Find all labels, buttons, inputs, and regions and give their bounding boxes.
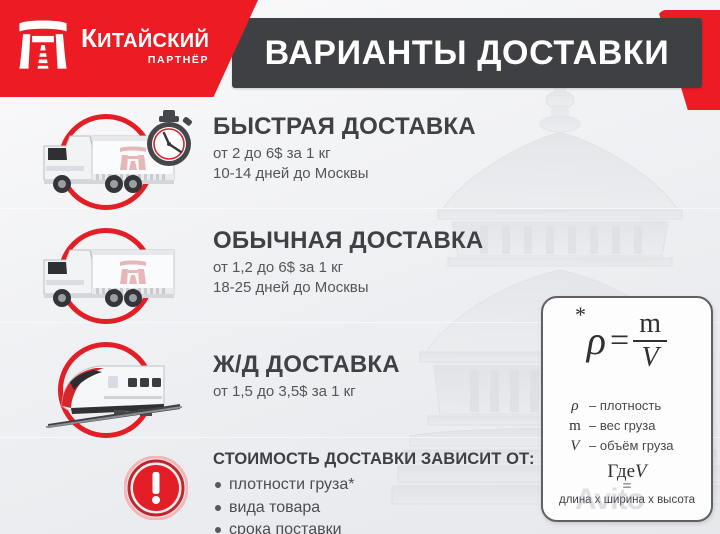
formula-where-equals: = bbox=[543, 482, 711, 492]
cost-factor-list: плотности груза* вида товара срока поста… bbox=[213, 474, 535, 534]
delivery-options-infographic: ВАРИАНТЫ ДОСТАВКИ КИТАЙСКИЙ bbox=[0, 0, 720, 534]
option-price: от 1,5 до 3,5$ за 1 кг bbox=[213, 383, 400, 401]
legend-text: – объём груза bbox=[589, 438, 674, 453]
option-price: от 1,2 до 6$ за 1 кг bbox=[213, 259, 483, 277]
option-text-rail: Ж/Д ДОСТАВКА от 1,5 до 3,5$ за 1 кг bbox=[213, 352, 400, 401]
list-item: срока поставки bbox=[213, 519, 535, 534]
formula-where-value: длина х ширина х высота bbox=[543, 494, 711, 506]
formula-numerator: m bbox=[639, 310, 661, 338]
legend-text: – вес груза bbox=[589, 418, 655, 433]
legend-text: – плотность bbox=[589, 398, 661, 413]
brand-logo[interactable]: КИТАЙСКИЙ ПАРТНЁР bbox=[14, 16, 209, 74]
cost-factors-block: СТОИМОСТЬ ДОСТАВКИ ЗАВИСИТ ОТ: плотности… bbox=[213, 450, 535, 534]
legend-row: V – объём груза bbox=[565, 438, 711, 455]
formula-legend: ρ – плотность m – вес груза V – объём гр… bbox=[543, 398, 711, 458]
brand-name-rest: ИТАЙСКИЙ bbox=[97, 30, 209, 52]
density-formula-card: * ρ = m V ρ – плотность m – вес груза V … bbox=[541, 296, 713, 522]
formula-denominator: V bbox=[642, 344, 659, 372]
option-row-fast[interactable]: БЫСТРАЯ ДОСТАВКА от 2 до 6$ за 1 кг 10-1… bbox=[0, 108, 720, 208]
formula-expression: ρ = m V bbox=[543, 310, 711, 372]
option-title: ОБЫЧНАЯ ДОСТАВКА bbox=[213, 228, 483, 253]
option-term: 10-14 дней до Москвы bbox=[213, 165, 476, 183]
list-item: вида товара bbox=[213, 497, 535, 520]
option-text-regular: ОБЫЧНАЯ ДОСТАВКА от 1,2 до 6$ за 1 кг 18… bbox=[213, 228, 483, 298]
brand-name-cap: К bbox=[81, 23, 97, 53]
formula-rho-symbol: ρ bbox=[587, 321, 606, 361]
train-icon bbox=[44, 352, 184, 428]
stopwatch-icon bbox=[141, 110, 197, 168]
formula-equals-sign: = bbox=[610, 324, 629, 358]
option-term: 18-25 дней до Москвы bbox=[213, 279, 483, 297]
header: ВАРИАНТЫ ДОСТАВКИ КИТАЙСКИЙ bbox=[0, 0, 720, 100]
page-title: ВАРИАНТЫ ДОСТАВКИ bbox=[232, 18, 702, 88]
brand-subtitle: ПАРТНЁР bbox=[81, 55, 209, 66]
where-symbol: V bbox=[635, 461, 647, 482]
exclamation-circle-icon bbox=[124, 456, 188, 520]
cost-title: СТОИМОСТЬ ДОСТАВКИ ЗАВИСИТ ОТ: bbox=[213, 450, 535, 469]
formula-fraction: m V bbox=[633, 310, 667, 372]
legend-symbol: m bbox=[565, 418, 585, 435]
chinese-gate-logo-icon bbox=[14, 16, 72, 74]
brand-name: КИТАЙСКИЙ bbox=[81, 25, 209, 51]
legend-row: m – вес груза bbox=[565, 418, 711, 435]
legend-symbol: V bbox=[565, 438, 585, 455]
truck-icon bbox=[36, 236, 186, 314]
legend-row: ρ – плотность bbox=[565, 398, 711, 415]
legend-symbol: ρ bbox=[565, 398, 585, 415]
list-item: плотности груза* bbox=[213, 474, 535, 497]
option-title: БЫСТРАЯ ДОСТАВКА bbox=[213, 114, 476, 139]
option-title: Ж/Д ДОСТАВКА bbox=[213, 352, 400, 377]
option-text-fast: БЫСТРАЯ ДОСТАВКА от 2 до 6$ за 1 кг 10-1… bbox=[213, 114, 476, 184]
option-price: от 2 до 6$ за 1 кг bbox=[213, 145, 476, 163]
